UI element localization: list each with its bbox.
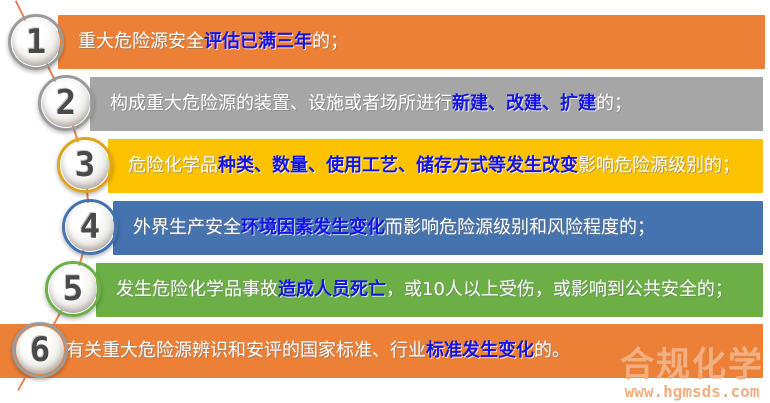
badge-number: 5 [63,272,83,306]
item-text: 构成重大危险源的装置、设施或者场所进行新建、改建、扩建的； [110,95,632,113]
item-bar[interactable]: 有关重大危险源辨识和安评的国家标准、行业标准发生变化的。 [0,324,763,378]
badge-number: 2 [56,86,76,120]
item-text: 重大危险源安全评估已满三年的； [78,33,348,51]
badge-number: 3 [75,148,95,182]
plain-text: 的； [596,93,632,114]
plain-text: 而影响危险源级别和风险程度的； [385,217,655,238]
step-number-badge[interactable]: 3 [57,137,113,193]
plain-text: 影响危险源级别的； [578,155,740,176]
item-text: 有关重大危险源辨识和安评的国家标准、行业标准发生变化的。 [66,342,570,360]
item-bar[interactable]: 发生危险化学品事故造成人员死亡，或10人以上受伤，或影响到公共安全的； [96,263,763,317]
highlighted-text: 评估已满三年 [204,31,312,52]
plain-text: 外界生产安全 [133,217,241,238]
plain-text: 有关重大危险源辨识和安评的国家标准、行业 [66,340,426,361]
step-number-badge[interactable]: 1 [8,14,64,70]
step-number-badge[interactable]: 6 [12,322,68,378]
plain-text: 构成重大危险源的装置、设施或者场所进行 [110,93,452,114]
highlighted-text: 新建、改建、扩建 [452,93,596,114]
item-text: 外界生产安全环境因素发生变化而影响危险源级别和风险程度的； [133,219,655,237]
badge-number: 4 [80,210,100,244]
item-bar[interactable]: 危险化学品种类、数量、使用工艺、储存方式等发生改变影响危险源级别的； [108,139,763,193]
highlighted-text: 环境因素发生变化 [241,217,385,238]
highlighted-text: 标准发生变化 [426,340,534,361]
plain-text: ，或10人以上受伤，或影响到公共安全的； [386,279,733,300]
plain-text: 的； [312,31,348,52]
item-bar[interactable]: 外界生产安全环境因素发生变化而影响危险源级别和风险程度的； [113,201,763,255]
plain-text: 的。 [534,340,570,361]
watermark-url: www.hgmsds.com [620,383,764,401]
plain-text: 发生危险化学品事故 [116,279,278,300]
badge-number: 1 [26,25,46,59]
item-text: 危险化学品种类、数量、使用工艺、储存方式等发生改变影响危险源级别的； [128,157,740,175]
item-text: 发生危险化学品事故造成人员死亡，或10人以上受伤，或影响到公共安全的； [116,281,733,299]
step-number-badge[interactable]: 4 [62,199,118,255]
highlighted-text: 造成人员死亡 [278,279,386,300]
plain-text: 重大危险源安全 [78,31,204,52]
highlighted-text: 种类、数量、使用工艺、储存方式等发生改变 [218,155,578,176]
step-number-badge[interactable]: 2 [38,75,94,131]
plain-text: 危险化学品 [128,155,218,176]
item-bar[interactable]: 重大危险源安全评估已满三年的； [58,15,765,69]
badge-number: 6 [30,333,50,367]
step-number-badge[interactable]: 5 [45,261,101,317]
item-bar[interactable]: 构成重大危险源的装置、设施或者场所进行新建、改建、扩建的； [90,77,763,131]
infographic-canvas: 重大危险源安全评估已满三年的；1构成重大危险源的装置、设施或者场所进行新建、改建… [0,0,770,403]
